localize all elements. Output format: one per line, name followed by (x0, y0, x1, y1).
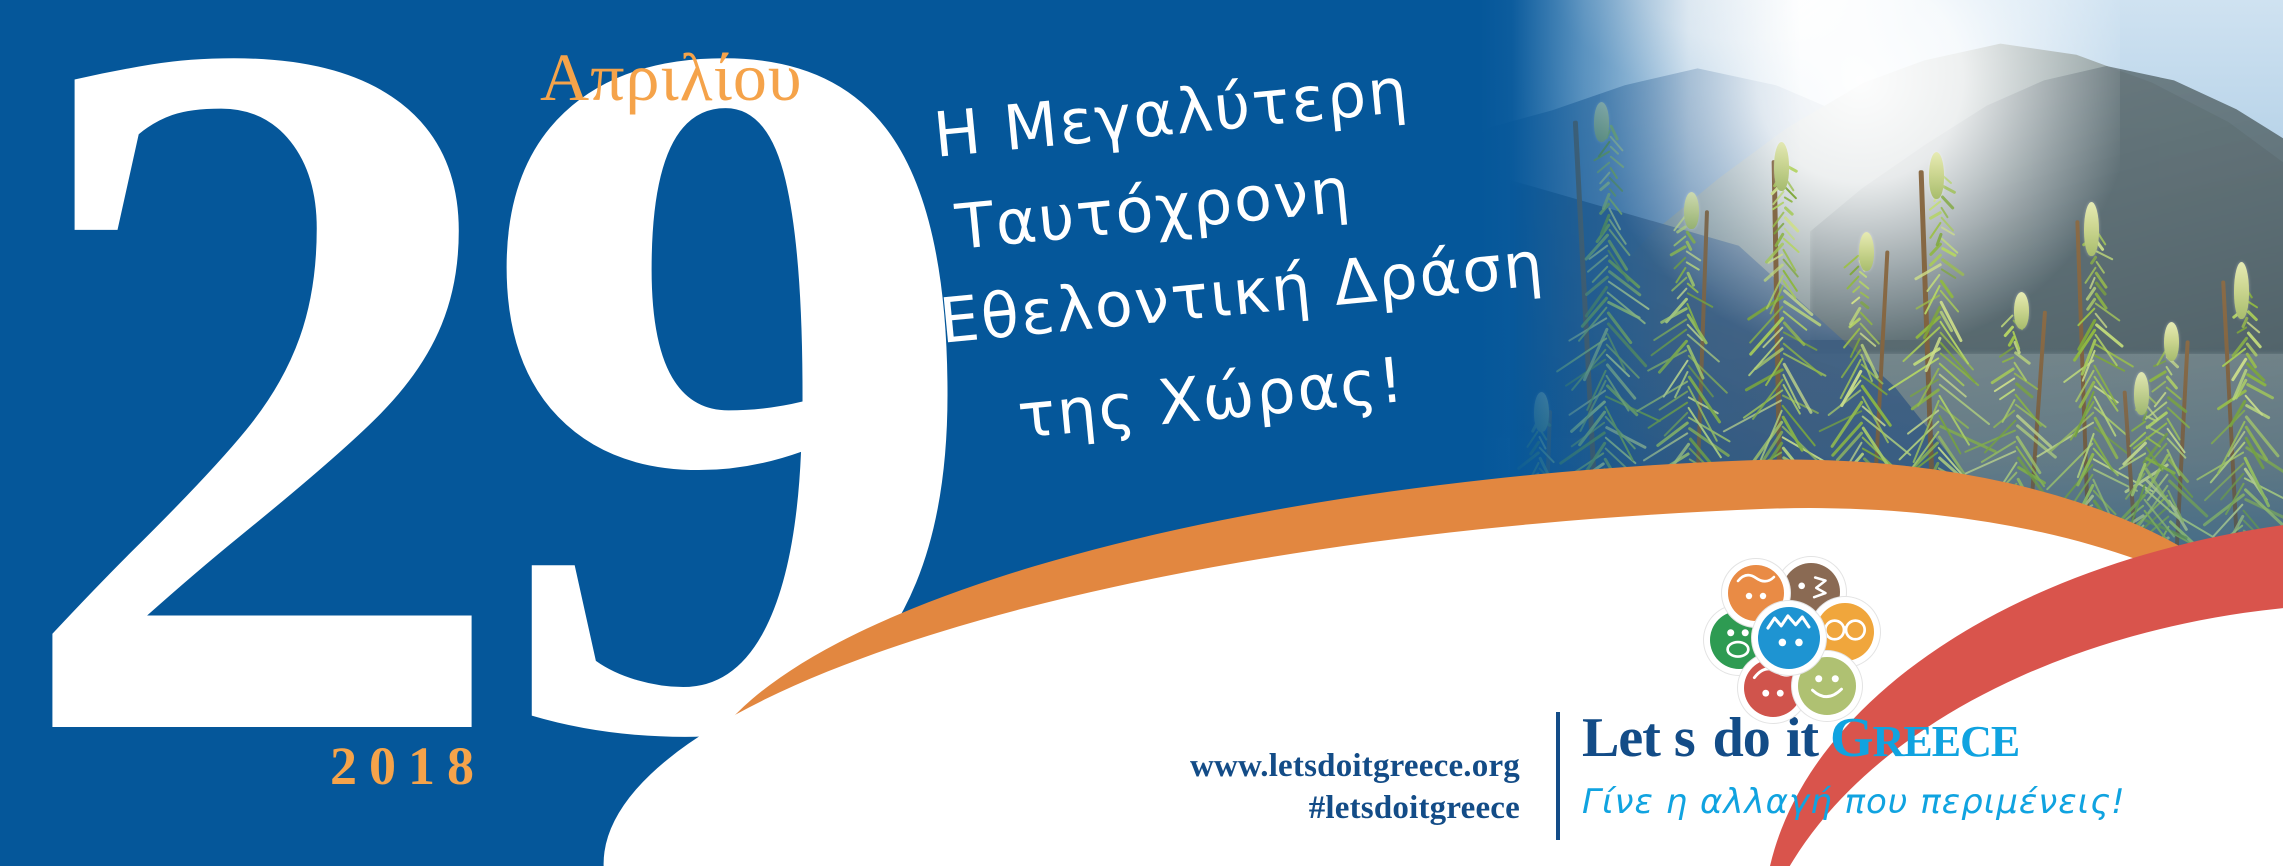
greece-smallcaps: REECE (1873, 717, 2020, 766)
glasses-icon (1816, 603, 1874, 661)
crown-hair-icon (1758, 607, 1820, 669)
face-blue-center (1758, 607, 1820, 669)
face-amber-right (1816, 603, 1874, 661)
brand-word-s: s (1674, 707, 1695, 769)
brand-divider (1556, 712, 1560, 840)
brand-word-let: Let (1582, 707, 1660, 769)
brand-tagline: Γίνε η αλλαγή που περιμένεις! (1582, 782, 2126, 822)
footer-links: www.letsdoitgreece.org #letsdoitgreece (1140, 745, 1520, 829)
website-url[interactable]: www.letsdoitgreece.org (1140, 745, 1520, 787)
campaign-slogan: Η Μεγαλύτερη Ταυτόχρονη Εθελοντική Δράση… (930, 95, 1670, 458)
hashtag[interactable]: #letsdoitgreece (1140, 787, 1520, 829)
campaign-banner: 29 Απριλίου 2018 Η Μεγαλύτερη Ταυτόχρονη… (0, 0, 2283, 866)
year-label: 2018 (330, 735, 486, 797)
month-label: Απριλίου (540, 38, 803, 117)
lets-do-it-faces-logo (1710, 563, 1882, 723)
